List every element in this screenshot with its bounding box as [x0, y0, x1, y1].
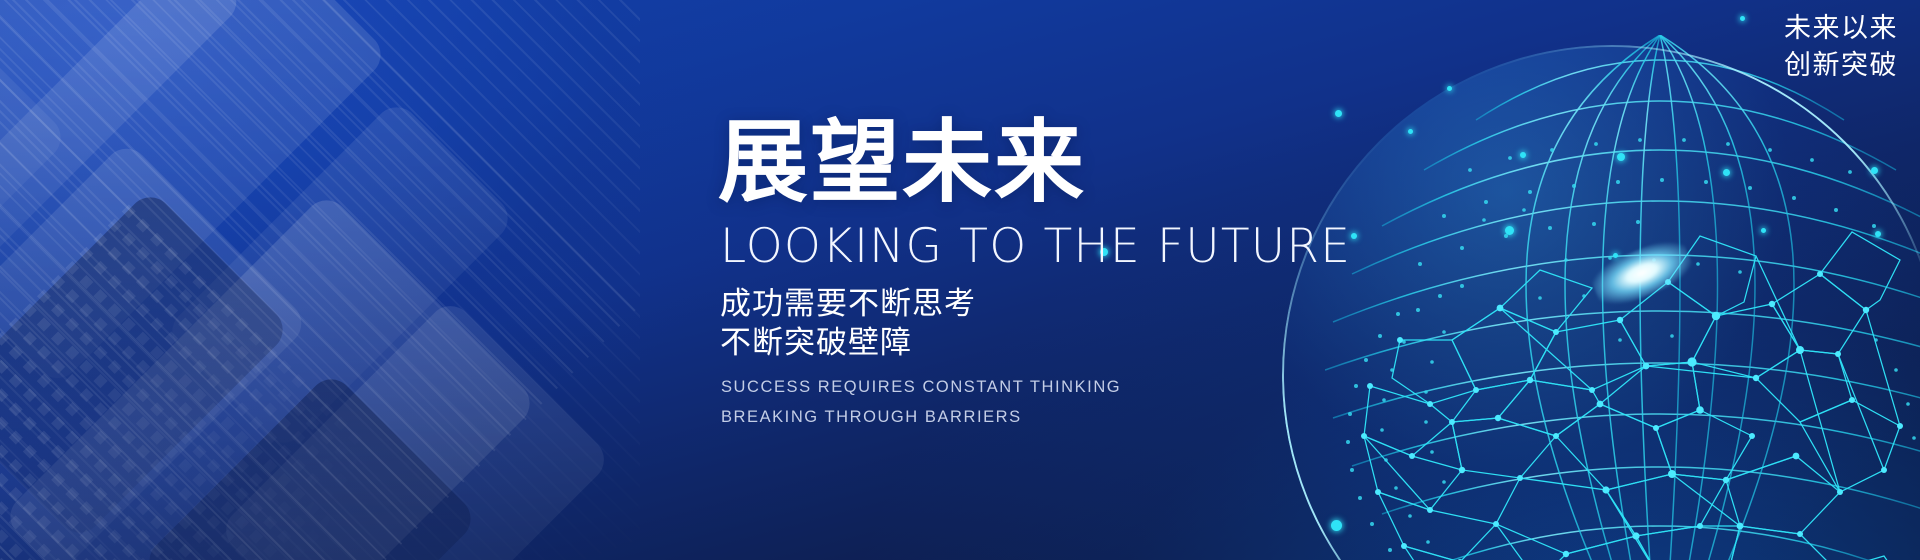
- spark-dot-icon: [1505, 226, 1514, 235]
- tagline-en-line-2: BREAKING THROUGH BARRIERS: [721, 403, 1418, 432]
- corner-slogan-line-2: 创新突破: [1784, 47, 1898, 84]
- headline-block: 展望未来 LOOKING TO THE FUTURE 成功需要不断思考 不断突破…: [718, 118, 1418, 432]
- spark-dot-icon: [1613, 253, 1618, 258]
- spark-dot-icon: [1740, 16, 1745, 21]
- spark-dot-icon: [1331, 520, 1342, 531]
- tagline-en: SUCCESS REQUIRES CONSTANT THINKING BREAK…: [721, 373, 1418, 432]
- page-subtitle-en: LOOKING TO THE FUTURE: [720, 222, 1418, 272]
- corner-slogan-line-1: 未来以来: [1784, 10, 1898, 47]
- geometric-decoration-left: [0, 0, 640, 560]
- promo-banner: 展望未来 LOOKING TO THE FUTURE 成功需要不断思考 不断突破…: [0, 0, 1920, 560]
- spark-dot-icon: [1447, 86, 1452, 91]
- spark-dot-icon: [1871, 167, 1878, 174]
- spark-dot-icon: [1761, 228, 1766, 233]
- corner-slogan: 未来以来 创新突破: [1784, 10, 1898, 85]
- spark-dot-icon: [1875, 231, 1881, 237]
- tagline-cn-line-1: 成功需要不断思考: [720, 284, 1418, 324]
- page-title: 展望未来: [718, 118, 1418, 208]
- spark-dot-icon: [1335, 110, 1342, 117]
- spark-dot-icon: [1617, 153, 1625, 161]
- tagline-en-line-1: SUCCESS REQUIRES CONSTANT THINKING: [721, 373, 1418, 402]
- tagline-cn-line-2: 不断突破壁障: [720, 323, 1418, 363]
- spark-dot-icon: [1520, 152, 1526, 158]
- tagline-cn: 成功需要不断思考 不断突破壁障: [720, 284, 1418, 363]
- spark-dot-icon: [1723, 169, 1730, 176]
